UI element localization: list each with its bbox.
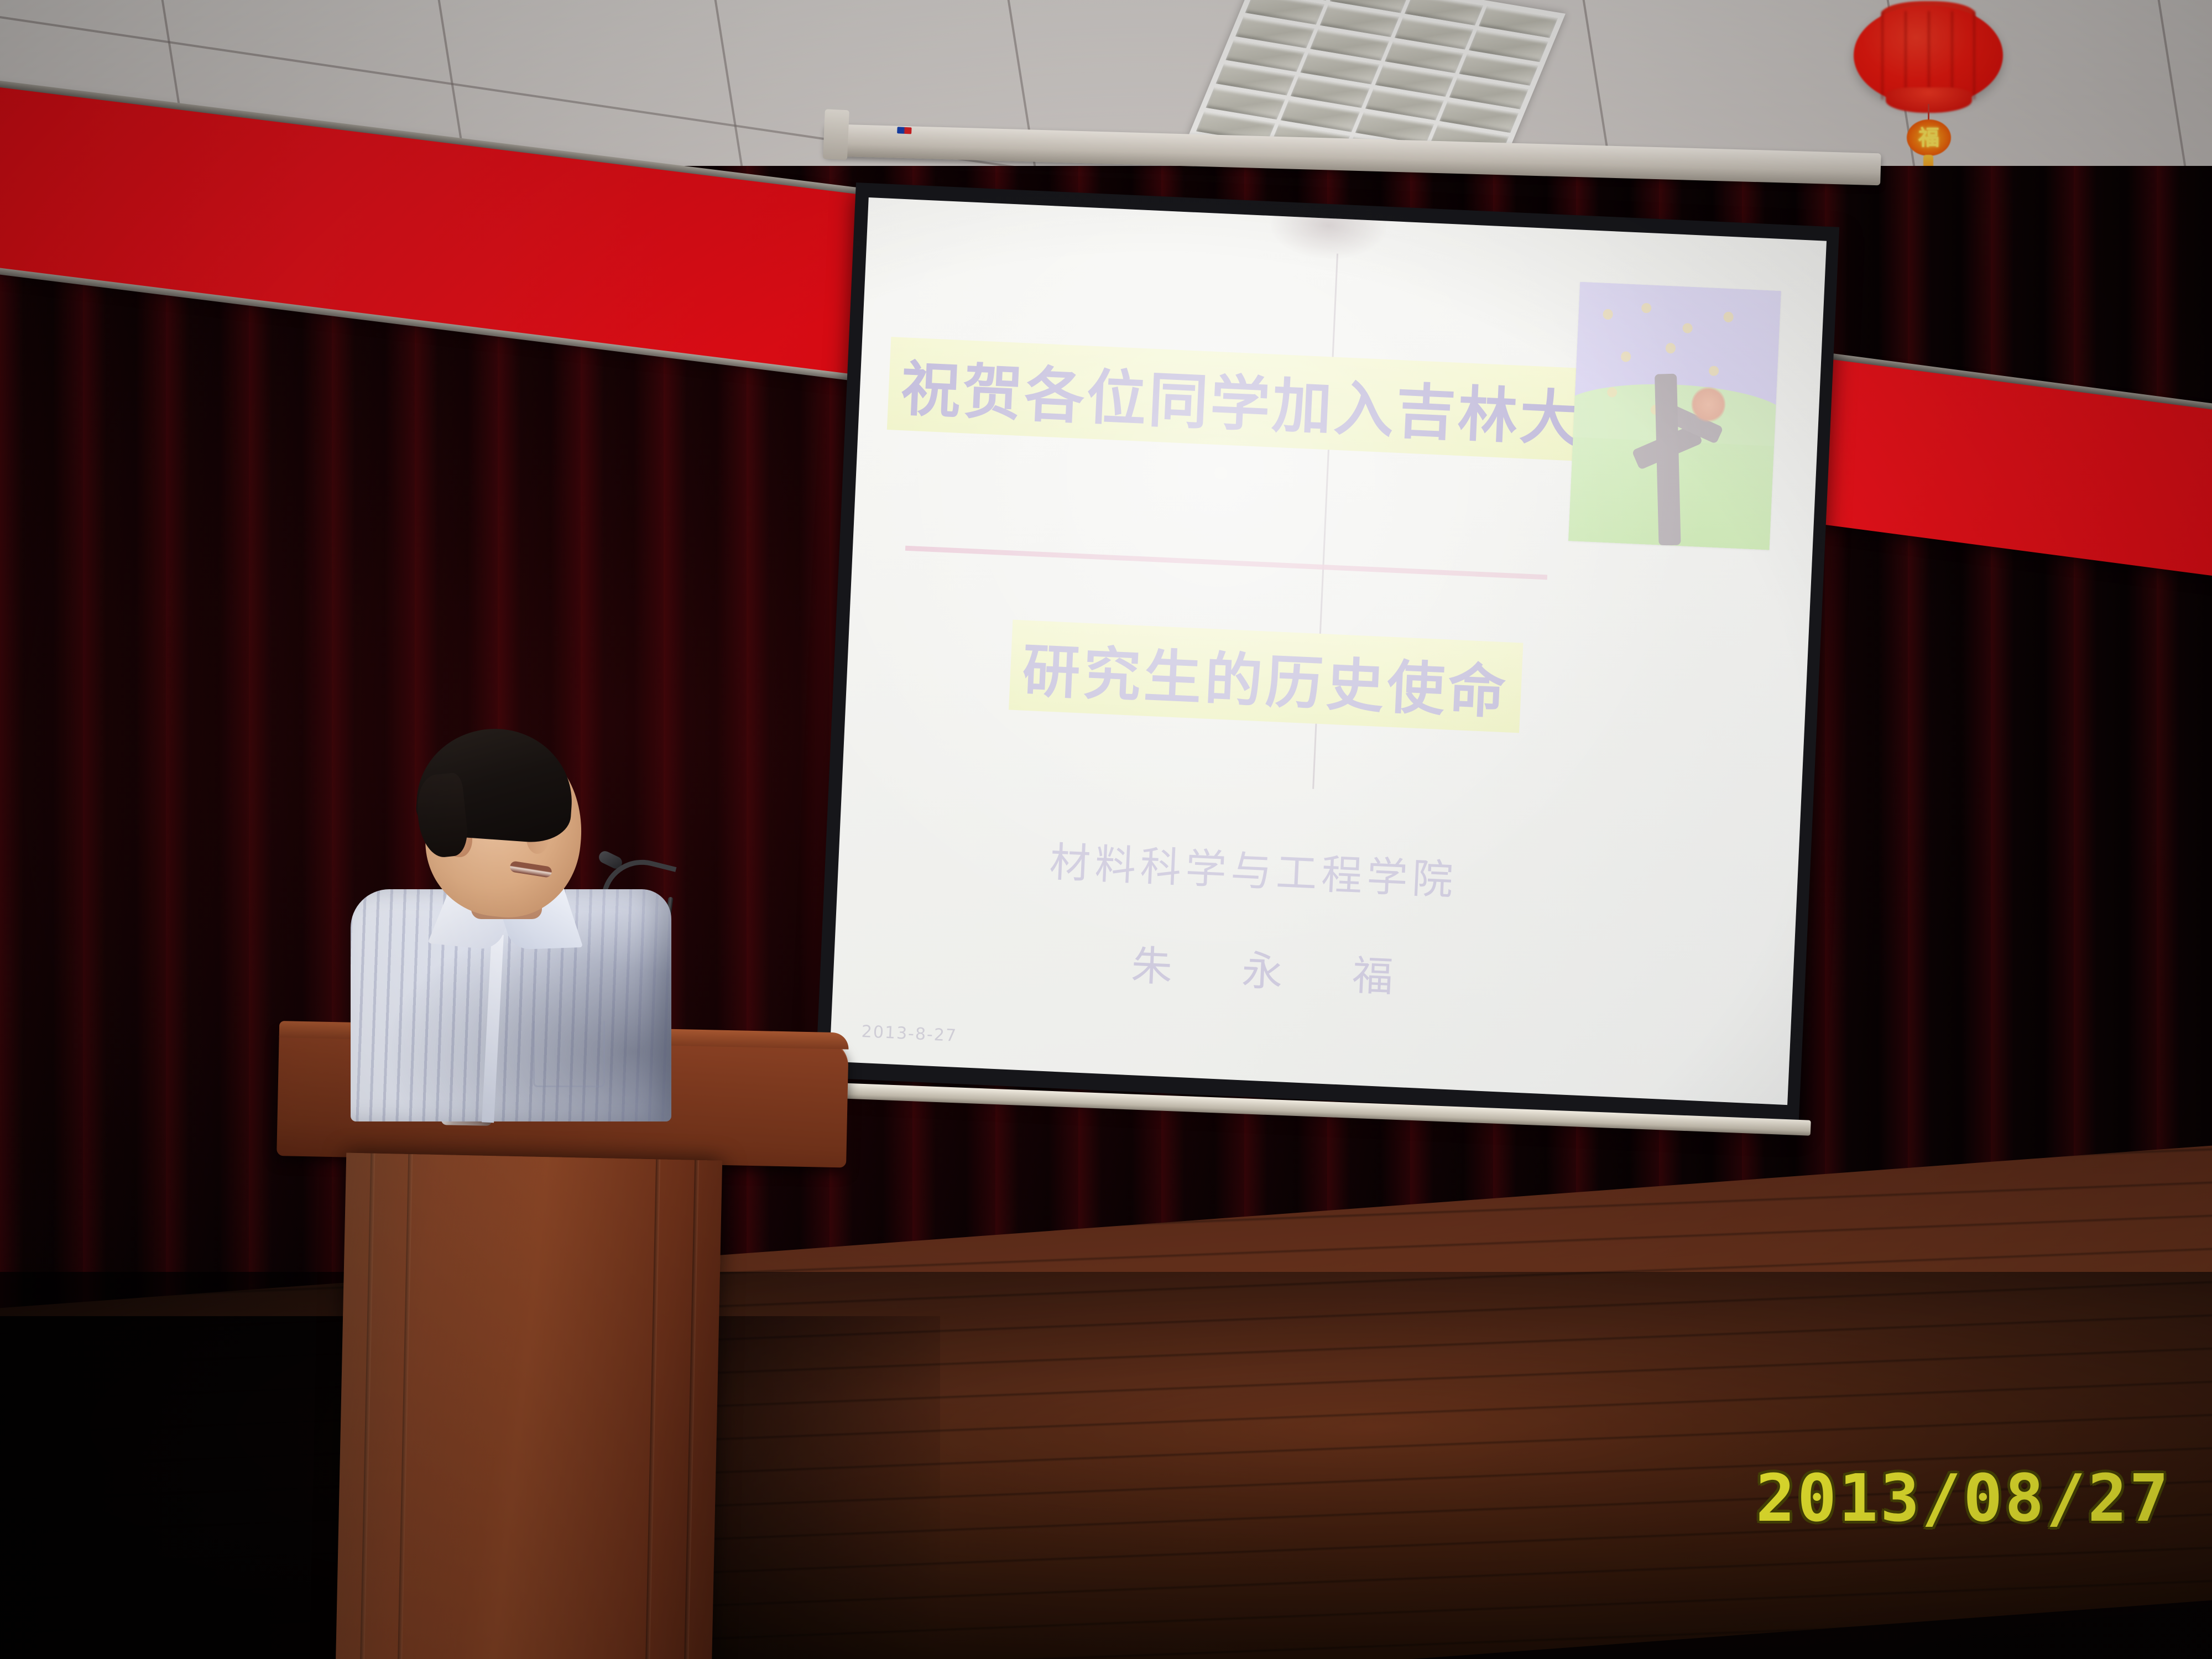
screen-black-frame: 祝贺各位同学加入吉林大学 研究生的历史使命 材料科学与工程学院 朱 永 福 20… xyxy=(816,182,1840,1122)
wooden-lectern xyxy=(266,1029,849,1659)
slide-subtitle-text: 研究生的历史使命 xyxy=(1009,619,1523,733)
slide-department: 材料科学与工程学院 xyxy=(1048,829,1741,920)
presenter-hair-side xyxy=(414,772,469,859)
projected-slide: 祝贺各位同学加入吉林大学 研究生的历史使命 材料科学与工程学院 朱 永 福 20… xyxy=(830,197,1827,1105)
slide-title: 祝贺各位同学加入吉林大学 xyxy=(887,337,1677,465)
slide-date: 2013-8-27 xyxy=(861,1022,958,1046)
projection-screen-assembly: 祝贺各位同学加入吉林大学 研究生的历史使命 材料科学与工程学院 朱 永 福 20… xyxy=(811,182,1856,1217)
slide-divider-rule xyxy=(905,545,1547,580)
slide-author: 朱 永 福 xyxy=(1130,932,1708,1018)
slide-title-text: 祝贺各位同学加入吉林大学 xyxy=(887,337,1658,465)
photograph-scene: 福 祝贺各位同学加入吉林大学 研究生的历史使命 xyxy=(0,0,2212,1659)
presenter xyxy=(310,713,763,1112)
slide-subtitle: 研究生的历史使命 xyxy=(1009,619,1760,743)
projector-shadow xyxy=(1269,197,1388,262)
shirt-pocket xyxy=(533,1021,605,1087)
fu-medallion-icon: 福 xyxy=(1907,119,1951,156)
fu-character: 福 xyxy=(1918,127,1939,148)
tree-illustration-icon xyxy=(1568,281,1781,550)
camera-date-stamp: 2013/08/27 xyxy=(1756,1460,2171,1536)
roller-end-cap xyxy=(823,109,849,160)
status-led-icon xyxy=(897,127,912,134)
lectern-column xyxy=(336,1153,722,1659)
